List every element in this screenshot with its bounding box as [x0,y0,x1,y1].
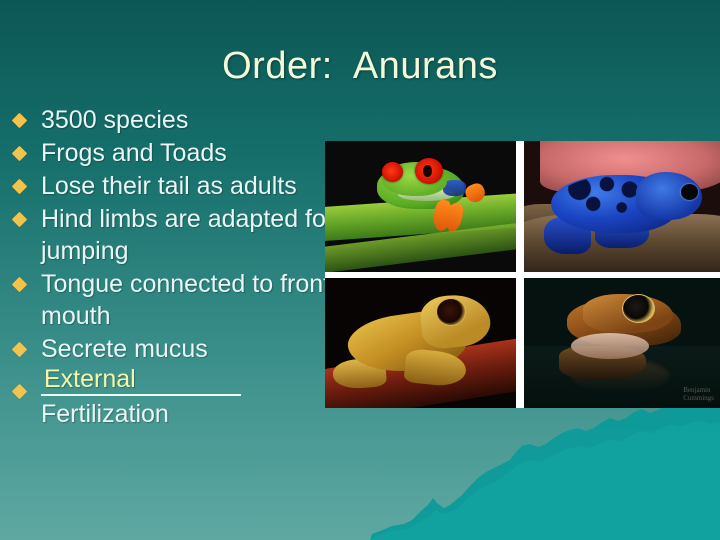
emphasized-term: External [41,364,241,396]
frog-eye-shape [436,298,467,326]
diamond-bullet-icon [12,277,28,293]
photo-blue-poison-dart-frog [524,141,720,272]
diamond-bullet-icon [12,179,28,195]
photo-collage: Benjamin Cummings [325,141,720,408]
photo-red-eyed-tree-frog [325,141,516,272]
photo-brown-frog-in-water: Benjamin Cummings [524,278,720,408]
photo-credit-watermark: Benjamin Cummings [683,386,714,402]
frog-eye-shape [622,294,655,323]
list-item: 3500 species [8,104,408,136]
photo-golden-tree-frog [325,278,516,408]
presentation-slide: Order: Anurans 3500 species Frogs and To… [0,0,720,540]
frog-eye-left-shape [382,162,403,182]
diamond-bullet-icon [12,113,28,129]
frog-throat-shape [571,333,649,359]
diamond-bullet-icon [12,146,28,162]
diamond-bullet-icon [12,342,28,358]
slide-title: Order: Anurans [0,44,720,88]
diamond-bullet-icon [12,212,28,228]
list-item-label: 3500 species [41,104,408,136]
diamond-bullet-icon [12,384,28,400]
